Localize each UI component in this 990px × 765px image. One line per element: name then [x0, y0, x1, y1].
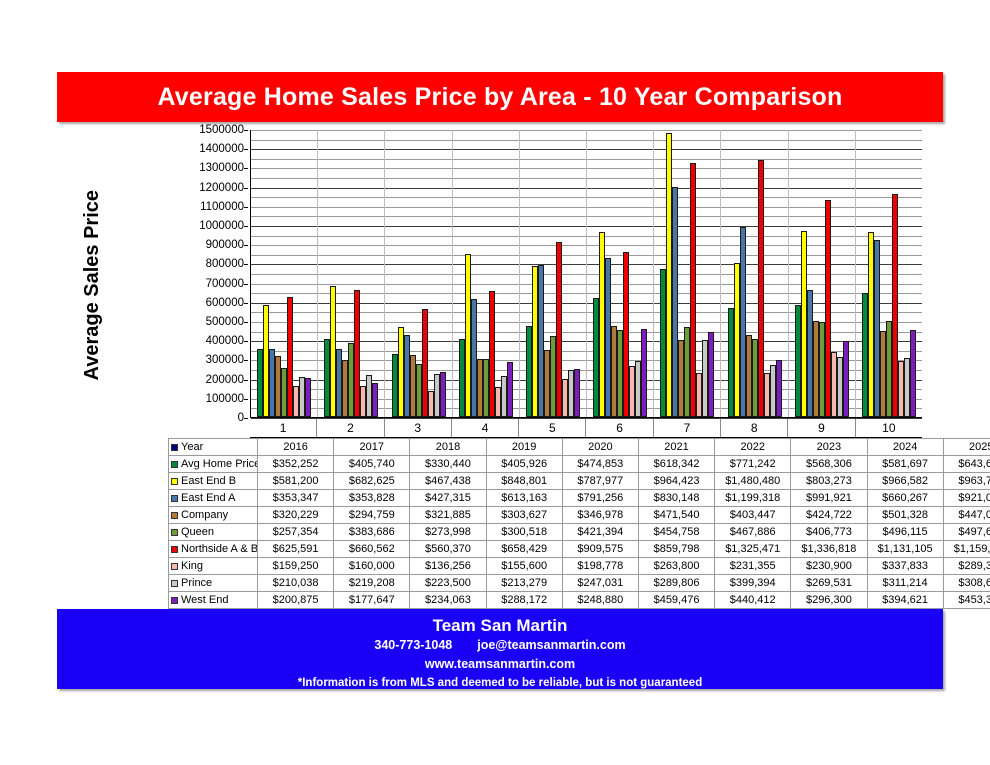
chart-title-banner: Average Home Sales Price by Area - 10 Ye…	[57, 72, 943, 122]
series-label: Northside A & B	[181, 543, 258, 555]
table-cell-value: $660,267	[867, 490, 943, 507]
table-cell-value: $581,697	[867, 456, 943, 473]
y-tick-label: 1400000	[199, 143, 244, 155]
table-cell-value: $198,778	[562, 558, 638, 575]
y-tick-mark	[244, 303, 248, 304]
series-label: King	[181, 560, 203, 572]
x-tick-label: 6	[586, 419, 653, 437]
table-cell-value: $136,256	[410, 558, 486, 575]
bar-group	[385, 130, 452, 417]
table-cell-value: $405,740	[334, 456, 410, 473]
table-cell-value: $771,242	[715, 456, 791, 473]
company-name: Team San Martin	[57, 615, 943, 636]
y-axis-title-label: Average Sales Price	[81, 190, 104, 381]
table-cell-value: $210,038	[258, 575, 334, 592]
bar[interactable]	[708, 332, 714, 417]
y-tick-label: 800000	[206, 258, 244, 270]
bar-group	[453, 130, 520, 417]
legend-swatch-icon	[171, 444, 178, 451]
table-cell-value: $405,926	[486, 456, 562, 473]
table-cell-value: $160,000	[334, 558, 410, 575]
table-row: Northside A & B$625,591$660,562$560,370$…	[169, 541, 990, 558]
table-row-header: Avg Home Price	[169, 456, 258, 473]
bar-group	[789, 130, 856, 417]
table-cell-value: $643,644	[943, 456, 990, 473]
y-tick-mark	[244, 341, 248, 342]
series-label: West End	[181, 594, 229, 606]
table-cell-value: $467,886	[715, 524, 791, 541]
x-tick-label: 9	[788, 419, 855, 437]
table-cell-value: $257,354	[258, 524, 334, 541]
table-cell-value: $421,394	[562, 524, 638, 541]
y-tick-mark	[244, 149, 248, 150]
page-title: Average Home Sales Price by Area - 10 Ye…	[157, 83, 842, 112]
y-tick-mark	[244, 418, 248, 419]
legend-swatch-icon	[171, 529, 178, 536]
legend-swatch-icon	[171, 580, 178, 587]
bar[interactable]	[372, 383, 378, 417]
series-label: Year	[181, 441, 203, 453]
table-cell-value: $263,800	[638, 558, 714, 575]
table-row: East End A$353,347$353,828$427,315$613,1…	[169, 490, 990, 507]
table-cell-value: $1,480,480	[715, 473, 791, 490]
series-label: East End B	[181, 475, 236, 487]
table-cell-value: $234,063	[410, 592, 486, 609]
series-label: Queen	[181, 526, 214, 538]
bar-group	[520, 130, 587, 417]
table-cell-value: $200,875	[258, 592, 334, 609]
y-tick-mark	[244, 264, 248, 265]
y-tick-label: 600000	[206, 297, 244, 309]
series-label: East End A	[181, 492, 235, 504]
table-cell-value: $353,828	[334, 490, 410, 507]
table-cell-year: 2017	[334, 439, 410, 456]
table-cell-value: $660,562	[334, 541, 410, 558]
x-axis-labels: 12345678910	[250, 419, 922, 438]
table-cell-value: $830,148	[638, 490, 714, 507]
footer-banner: Team San Martin 340-773-1048 joe@teamsan…	[57, 609, 943, 689]
bar[interactable]	[641, 329, 647, 417]
table-cell-year: 2020	[562, 439, 638, 456]
table-cell-value: $613,163	[486, 490, 562, 507]
phone-number[interactable]: 340-773-1048	[374, 638, 452, 652]
table-cell-value: $560,370	[410, 541, 486, 558]
y-tick-mark	[244, 207, 248, 208]
table-cell-value: $496,115	[867, 524, 943, 541]
table-cell-value: $467,438	[410, 473, 486, 490]
table-cell-year: 2023	[791, 439, 867, 456]
table-cell-value: $963,712	[943, 473, 990, 490]
y-tick-mark	[244, 130, 248, 131]
table-cell-value: $346,978	[562, 507, 638, 524]
table-cell-value: $424,722	[791, 507, 867, 524]
table-cell-year: 2024	[867, 439, 943, 456]
table-cell-value: $1,199,318	[715, 490, 791, 507]
table-cell-year: 2016	[258, 439, 334, 456]
table-cell-value: $581,200	[258, 473, 334, 490]
legend-swatch-icon	[171, 512, 178, 519]
table-row-header: Year	[169, 439, 258, 456]
table-cell-value: $859,798	[638, 541, 714, 558]
x-tick-label: 3	[385, 419, 452, 437]
table-cell-value: $453,343	[943, 592, 990, 609]
y-tick-label: 700000	[206, 278, 244, 290]
y-tick-label: 1500000	[199, 124, 244, 136]
table-cell-value: $288,172	[486, 592, 562, 609]
table-cell-value: $791,256	[562, 490, 638, 507]
bar-chart: 1500000140000013000001200000110000010000…	[168, 130, 922, 430]
table-cell-value: $454,758	[638, 524, 714, 541]
y-tick-mark	[244, 322, 248, 323]
table-row-header: Prince	[169, 575, 258, 592]
website-url[interactable]: www.teamsanmartin.com	[425, 657, 575, 671]
table-row-header: Queen	[169, 524, 258, 541]
y-axis-title: Average Sales Price	[72, 140, 112, 430]
legend-swatch-icon	[171, 495, 178, 502]
y-tick-mark	[244, 360, 248, 361]
table-cell-value: $964,423	[638, 473, 714, 490]
legend-swatch-icon	[171, 461, 178, 468]
y-tick-label: 100000	[206, 393, 244, 405]
legend-swatch-icon	[171, 546, 178, 553]
table-cell-value: $247,031	[562, 575, 638, 592]
table-cell-value: $289,806	[638, 575, 714, 592]
series-label: Prince	[181, 577, 212, 589]
table-cell-value: $440,412	[715, 592, 791, 609]
table-row-header: East End A	[169, 490, 258, 507]
table-cell-value: $658,429	[486, 541, 562, 558]
table-cell-value: $300,518	[486, 524, 562, 541]
table-cell-value: $459,476	[638, 592, 714, 609]
y-tick-mark	[244, 226, 248, 227]
table-cell-value: $1,336,818	[791, 541, 867, 558]
table-cell-value: $471,540	[638, 507, 714, 524]
table-cell-value: $230,900	[791, 558, 867, 575]
table-cell-value: $966,582	[867, 473, 943, 490]
plot-area	[250, 130, 922, 418]
table-cell-value: $248,880	[562, 592, 638, 609]
x-tick-label: 7	[654, 419, 721, 437]
table-cell-value: $269,531	[791, 575, 867, 592]
table-cell-value: $289,357	[943, 558, 990, 575]
table-cell-value: $273,998	[410, 524, 486, 541]
x-tick-label: 1	[250, 419, 317, 437]
table-cell-year: 2022	[715, 439, 791, 456]
table-row-header: Company	[169, 507, 258, 524]
bar[interactable]	[440, 372, 446, 417]
table-cell-value: $337,833	[867, 558, 943, 575]
contact-line: 340-773-1048 joe@teamsanmartin.com	[57, 636, 943, 655]
y-tick-mark	[244, 399, 248, 400]
table-cell-value: $321,885	[410, 507, 486, 524]
table-cell-value: $406,773	[791, 524, 867, 541]
table-cell-year: 2018	[410, 439, 486, 456]
y-tick-label: 1000000	[199, 220, 244, 232]
series-label: Company	[181, 509, 228, 521]
website-line: www.teamsanmartin.com	[57, 655, 943, 674]
table-cell-value: $353,347	[258, 490, 334, 507]
x-tick-label: 5	[519, 419, 586, 437]
y-tick-label: 300000	[206, 354, 244, 366]
table-cell-value: $231,355	[715, 558, 791, 575]
table-row-header: West End	[169, 592, 258, 609]
y-tick-mark	[244, 284, 248, 285]
bar[interactable]	[910, 330, 916, 417]
table-cell-value: $296,300	[791, 592, 867, 609]
table-cell-value: $155,600	[486, 558, 562, 575]
y-tick-mark	[244, 380, 248, 381]
table-row: Prince$210,038$219,208$223,500$213,279$2…	[169, 575, 990, 592]
table-cell-value: $848,801	[486, 473, 562, 490]
table-cell-value: $1,159,273	[943, 541, 990, 558]
table-row-header: King	[169, 558, 258, 575]
table-cell-value: $311,214	[867, 575, 943, 592]
table-cell-value: $501,328	[867, 507, 943, 524]
table-cell-value: $921,013	[943, 490, 990, 507]
table-row: Company$320,229$294,759$321,885$303,627$…	[169, 507, 990, 524]
legend-swatch-icon	[171, 478, 178, 485]
table-cell-value: $294,759	[334, 507, 410, 524]
y-tick-label: 900000	[206, 239, 244, 251]
y-tick-label: 1200000	[199, 182, 244, 194]
bar-group	[251, 130, 318, 417]
table-row-header: Northside A & B	[169, 541, 258, 558]
table-row: King$159,250$160,000$136,256$155,600$198…	[169, 558, 990, 575]
bar[interactable]	[507, 362, 513, 417]
table-row-header: East End B	[169, 473, 258, 490]
y-axis-tick-labels: 1500000140000013000001200000110000010000…	[168, 130, 248, 418]
bar[interactable]	[843, 341, 849, 417]
table-cell-value: $330,440	[410, 456, 486, 473]
y-tick-mark	[244, 245, 248, 246]
bar-group	[318, 130, 385, 417]
y-tick-mark	[244, 188, 248, 189]
table-cell-value: $427,315	[410, 490, 486, 507]
table-cell-value: $223,500	[410, 575, 486, 592]
table-cell-year: 2021	[638, 439, 714, 456]
x-tick-label: 8	[721, 419, 788, 437]
table-cell-value: $219,208	[334, 575, 410, 592]
table-cell-value: $1,131,105	[867, 541, 943, 558]
table-cell-value: $991,921	[791, 490, 867, 507]
table-cell-value: $568,306	[791, 456, 867, 473]
bar-groups	[251, 130, 922, 417]
bar-group	[587, 130, 654, 417]
email-address[interactable]: joe@teamsanmartin.com	[477, 638, 625, 652]
table-cell-value: $213,279	[486, 575, 562, 592]
table-cell-value: $177,647	[334, 592, 410, 609]
table-row: West End$200,875$177,647$234,063$288,172…	[169, 592, 990, 609]
table-cell-value: $308,673	[943, 575, 990, 592]
table-row: East End B$581,200$682,625$467,438$848,8…	[169, 473, 990, 490]
table-cell-value: $618,342	[638, 456, 714, 473]
table-cell-value: $447,048	[943, 507, 990, 524]
bar-group	[721, 130, 788, 417]
bar[interactable]	[574, 369, 580, 417]
table-row: Avg Home Price$352,252$405,740$330,440$4…	[169, 456, 990, 473]
table-cell-value: $352,252	[258, 456, 334, 473]
x-tick-label: 10	[856, 419, 922, 437]
series-label: Avg Home Price	[181, 458, 258, 470]
table-row: Year201620172018201920202021202220232024…	[169, 439, 990, 456]
table-cell-value: $403,447	[715, 507, 791, 524]
y-tick-label: 1300000	[199, 162, 244, 174]
table-cell-value: $399,394	[715, 575, 791, 592]
legend-swatch-icon	[171, 563, 178, 570]
table-cell-value: $803,273	[791, 473, 867, 490]
bar-group	[856, 130, 922, 417]
table-cell-value: $394,621	[867, 592, 943, 609]
bar-group	[654, 130, 721, 417]
table-cell-value: $909,575	[562, 541, 638, 558]
data-table: Year201620172018201920202021202220232024…	[168, 438, 990, 609]
legend-swatch-icon	[171, 597, 178, 604]
table-cell-value: $682,625	[334, 473, 410, 490]
y-tick-label: 500000	[206, 316, 244, 328]
x-tick-label: 2	[317, 419, 384, 437]
table-cell-value: $1,325,471	[715, 541, 791, 558]
bar[interactable]	[305, 378, 311, 417]
bar[interactable]	[776, 360, 782, 417]
table-cell-value: $787,977	[562, 473, 638, 490]
y-tick-label: 1100000	[200, 201, 244, 213]
x-tick-label: 4	[452, 419, 519, 437]
y-tick-label: 200000	[206, 374, 244, 386]
table-cell-year: 2025	[943, 439, 990, 456]
table-cell-value: $303,627	[486, 507, 562, 524]
y-tick-label: 400000	[206, 335, 244, 347]
y-tick-mark	[244, 168, 248, 169]
disclaimer: *Information is from MLS and deemed to b…	[57, 674, 943, 692]
table-cell-year: 2019	[486, 439, 562, 456]
table-cell-value: $320,229	[258, 507, 334, 524]
table-cell-value: $383,686	[334, 524, 410, 541]
table-cell-value: $474,853	[562, 456, 638, 473]
table-cell-value: $497,667	[943, 524, 990, 541]
table-cell-value: $625,591	[258, 541, 334, 558]
table-cell-value: $159,250	[258, 558, 334, 575]
table-row: Queen$257,354$383,686$273,998$300,518$42…	[169, 524, 990, 541]
